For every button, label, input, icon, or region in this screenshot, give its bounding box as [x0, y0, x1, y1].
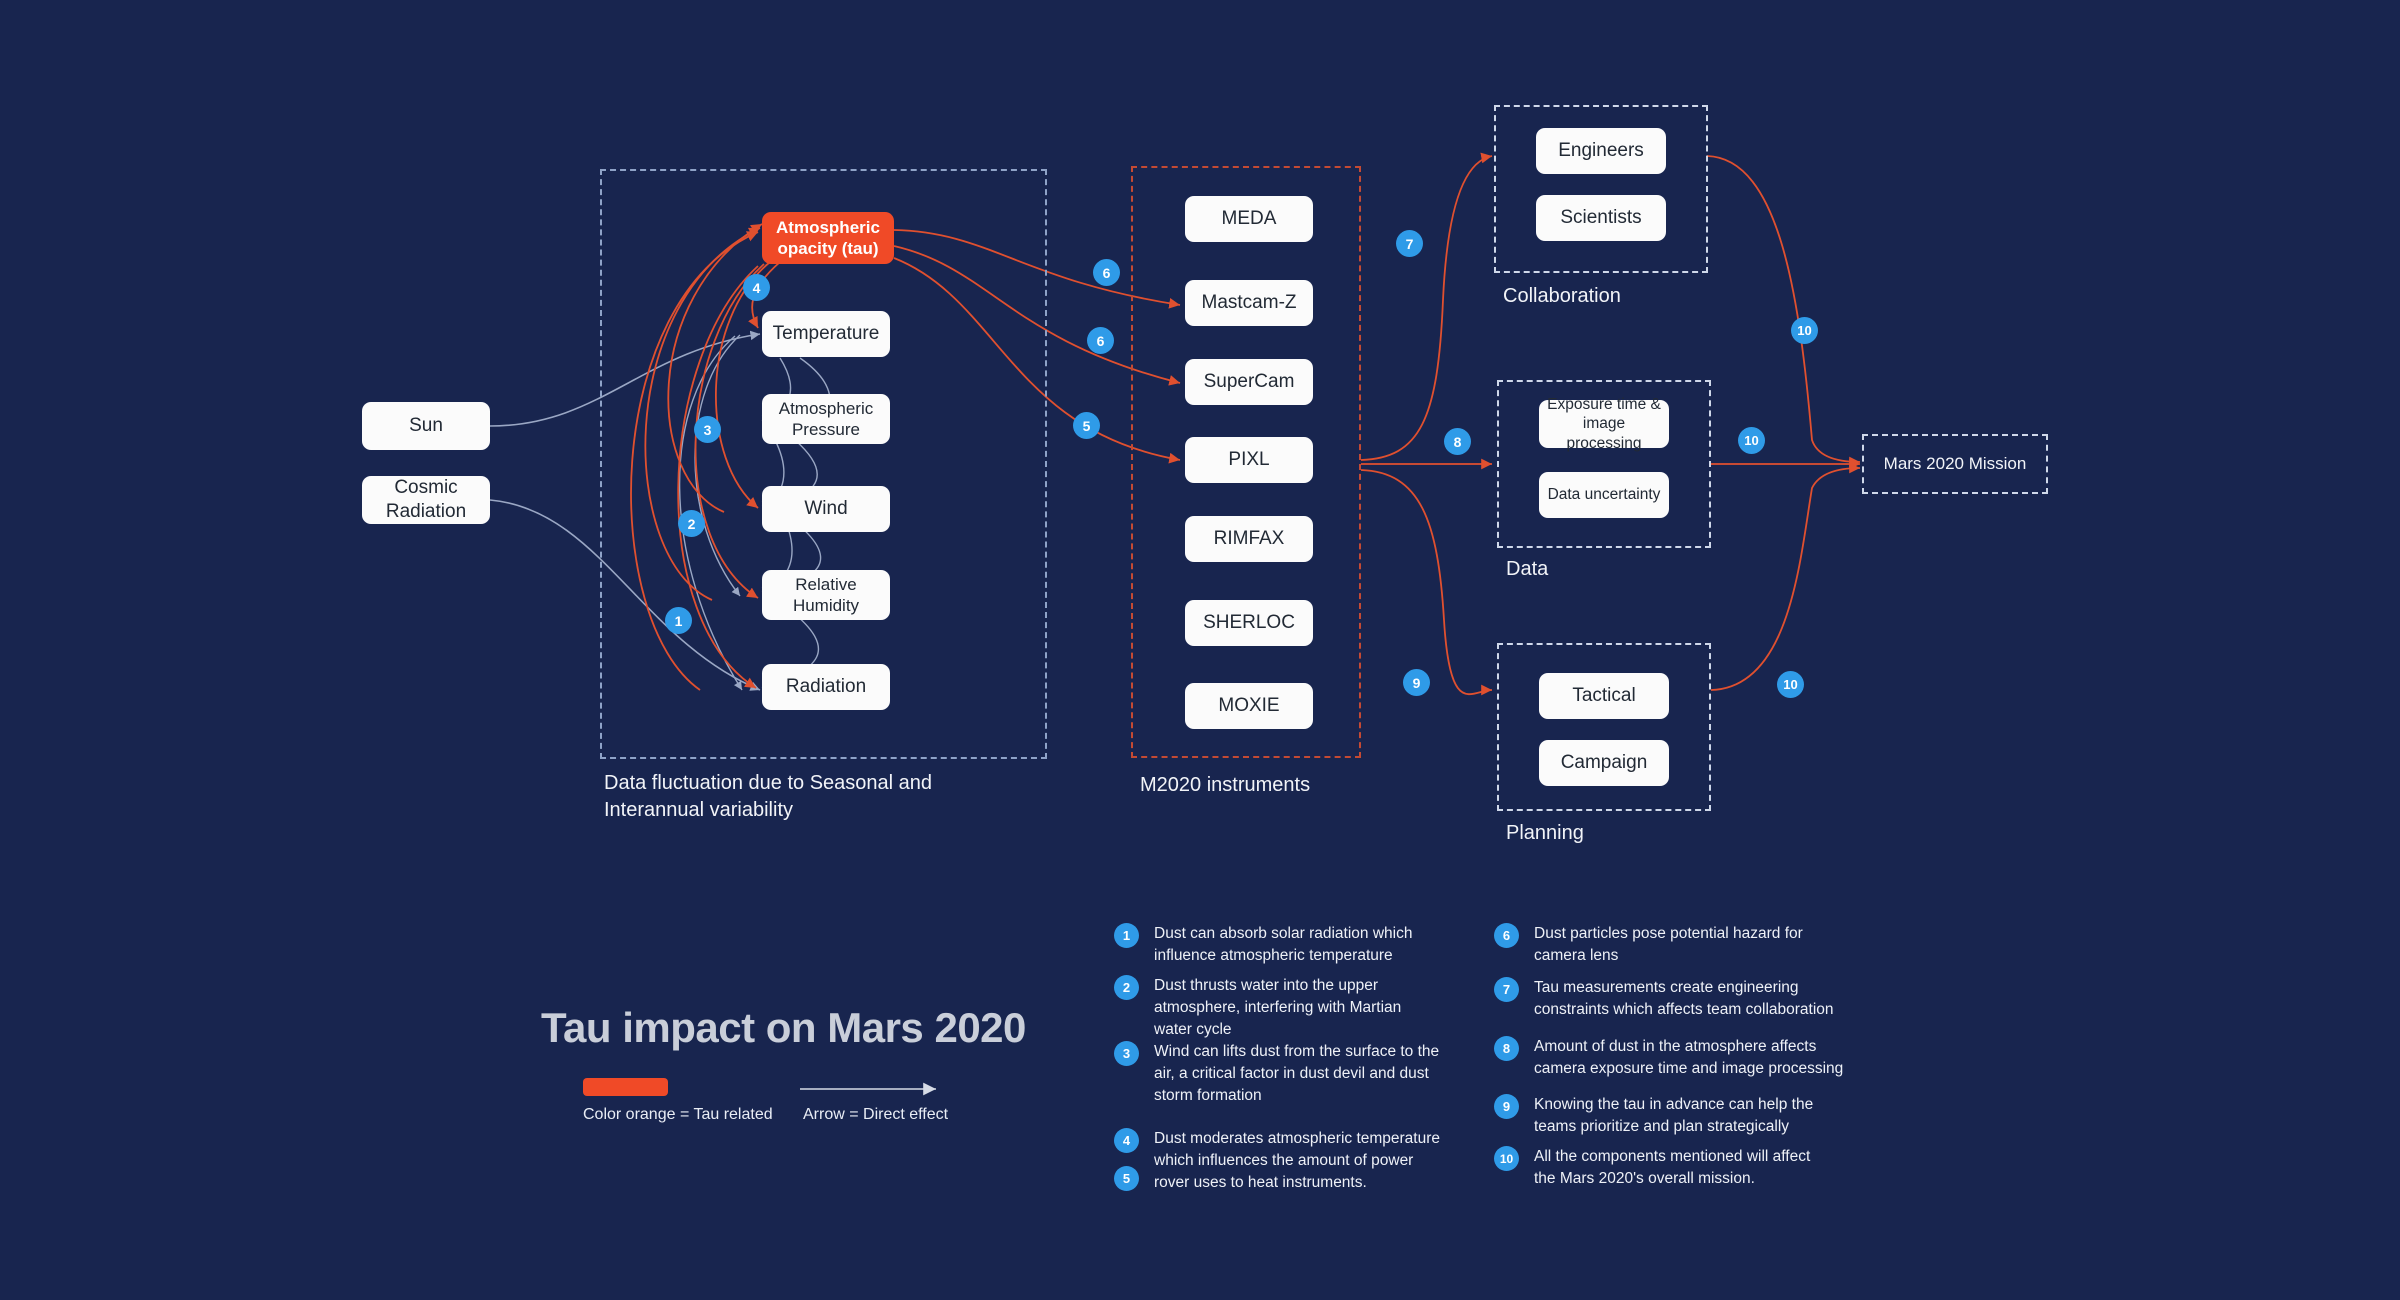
legend-badge: 9	[1494, 1094, 1519, 1119]
mission-label: Mars 2020 Mission	[1862, 434, 2048, 494]
legend-text: Knowing the tau in advance can help the …	[1534, 1094, 1813, 1138]
node-atmospheric-opacity-tau[interactable]: Atmospheric opacity (tau)	[762, 212, 894, 264]
node-relative-humidity[interactable]: Relative Humidity	[762, 570, 890, 620]
node-wind[interactable]: Wind	[762, 486, 890, 532]
diagram-canvas: Sun Cosmic Radiation Data fluctuation du…	[0, 0, 2400, 1300]
legend-item-2: 2 Dust thrusts water into the upper atmo…	[1114, 975, 1434, 1041]
diagram-badge-10-data: 10	[1738, 427, 1765, 454]
node-moxie[interactable]: MOXIE	[1185, 683, 1313, 729]
badge-number: 7	[1406, 236, 1414, 252]
badge-number: 10	[1744, 433, 1758, 448]
node-label: Engineers	[1558, 139, 1644, 163]
node-label: Mastcam-Z	[1202, 291, 1297, 315]
node-mastcam-z[interactable]: Mastcam-Z	[1185, 280, 1313, 326]
diagram-badge-3: 3	[694, 416, 721, 443]
node-label: Atmospheric opacity (tau)	[776, 217, 880, 260]
node-supercam[interactable]: SuperCam	[1185, 359, 1313, 405]
diagram-badge-1: 1	[665, 607, 692, 634]
node-label: Tactical	[1572, 684, 1635, 708]
legend-badge: 5	[1114, 1166, 1139, 1191]
legend-badge: 7	[1494, 977, 1519, 1002]
legend-item-5: 5	[1114, 1166, 1444, 1191]
legend-text: Dust can absorb solar radiation which in…	[1154, 923, 1412, 967]
diagram-badge-8: 8	[1444, 428, 1471, 455]
node-label: Campaign	[1561, 751, 1648, 775]
legend-item-6: 6 Dust particles pose potential hazard f…	[1494, 923, 1834, 967]
badge-number: 3	[704, 422, 712, 438]
diagram-badge-10-collab: 10	[1791, 317, 1818, 344]
badge-number: 5	[1083, 418, 1091, 434]
legend-badge: 4	[1114, 1128, 1139, 1153]
node-label: RIMFAX	[1214, 527, 1285, 551]
node-label: MEDA	[1222, 207, 1277, 231]
legend-text: All the components mentioned will affect…	[1534, 1146, 1810, 1190]
legend-item-9: 9 Knowing the tau in advance can help th…	[1494, 1094, 1844, 1138]
badge-number: 1	[675, 613, 683, 629]
legend-color-swatch	[583, 1078, 668, 1096]
badge-number: 9	[1413, 675, 1421, 691]
legend-text: Wind can lifts dust from the surface to …	[1154, 1041, 1439, 1107]
node-cosmic-radiation[interactable]: Cosmic Radiation	[362, 476, 490, 524]
legend-item-7: 7 Tau measurements create engineering co…	[1494, 977, 1844, 1021]
badge-number: 10	[1783, 677, 1797, 692]
diagram-badge-5-pixl: 5	[1073, 412, 1100, 439]
diagram-badge-10-planning: 10	[1777, 671, 1804, 698]
group-caption-variability: Data fluctuation due to Seasonal and Int…	[604, 770, 984, 824]
diagram-badge-9: 9	[1403, 669, 1430, 696]
node-label: Data uncertainty	[1548, 485, 1661, 504]
diagram-badge-2: 2	[678, 510, 705, 537]
node-exposure-time-image-processing[interactable]: Exposure time & image processing	[1539, 400, 1669, 448]
node-label: MOXIE	[1218, 694, 1279, 718]
node-label: SHERLOC	[1203, 611, 1295, 635]
legend-badge: 1	[1114, 923, 1139, 948]
page-title: Tau impact on Mars 2020	[541, 1004, 1026, 1052]
group-caption-collaboration: Collaboration	[1503, 283, 1723, 310]
legend-badge: 6	[1494, 923, 1519, 948]
node-label: Exposure time & image processing	[1545, 395, 1663, 453]
node-tactical[interactable]: Tactical	[1539, 673, 1669, 719]
badge-number: 10	[1797, 323, 1811, 338]
node-label: Sun	[409, 414, 443, 438]
badge-number: 6	[1097, 333, 1105, 349]
legend-item-1: 1 Dust can absorb solar radiation which …	[1114, 923, 1434, 967]
node-meda[interactable]: MEDA	[1185, 196, 1313, 242]
legend-text: Tau measurements create engineering cons…	[1534, 977, 1834, 1021]
legend-item-3: 3 Wind can lifts dust from the surface t…	[1114, 1041, 1444, 1107]
node-label: Relative Humidity	[793, 574, 859, 617]
badge-number: 2	[688, 516, 696, 532]
node-label: Atmospheric Pressure	[779, 398, 873, 441]
node-label: PIXL	[1228, 448, 1269, 472]
group-caption-data: Data	[1506, 556, 1726, 583]
group-caption-instruments: M2020 instruments	[1140, 772, 1400, 799]
legend-text: Dust thrusts water into the upper atmosp…	[1154, 975, 1401, 1041]
diagram-badge-6-mastcam: 6	[1093, 259, 1120, 286]
node-atmospheric-pressure[interactable]: Atmospheric Pressure	[762, 394, 890, 444]
node-label: Radiation	[786, 675, 866, 699]
legend-text: Amount of dust in the atmosphere affects…	[1534, 1036, 1843, 1080]
badge-number: 6	[1103, 265, 1111, 281]
node-label: Cosmic Radiation	[386, 476, 466, 524]
node-campaign[interactable]: Campaign	[1539, 740, 1669, 786]
node-pixl[interactable]: PIXL	[1185, 437, 1313, 483]
legend-arrow-label: Arrow = Direct effect	[803, 1106, 948, 1124]
legend-badge: 8	[1494, 1036, 1519, 1061]
legend-text: Dust particles pose potential hazard for…	[1534, 923, 1803, 967]
legend-badge: 3	[1114, 1041, 1139, 1066]
node-rimfax[interactable]: RIMFAX	[1185, 516, 1313, 562]
node-scientists[interactable]: Scientists	[1536, 195, 1666, 241]
diagram-badge-7: 7	[1396, 230, 1423, 257]
node-label: Temperature	[773, 322, 880, 346]
node-engineers[interactable]: Engineers	[1536, 128, 1666, 174]
node-sherloc[interactable]: SHERLOC	[1185, 600, 1313, 646]
diagram-badge-4: 4	[743, 274, 770, 301]
badge-number: 4	[753, 280, 761, 296]
legend-item-8: 8 Amount of dust in the atmosphere affec…	[1494, 1036, 1844, 1080]
diagram-badge-6-supercam: 6	[1087, 327, 1114, 354]
node-label: SuperCam	[1204, 370, 1295, 394]
node-radiation[interactable]: Radiation	[762, 664, 890, 710]
legend-badge: 2	[1114, 975, 1139, 1000]
node-label: Scientists	[1560, 206, 1641, 230]
legend-badge: 10	[1494, 1146, 1519, 1171]
node-label: Wind	[804, 497, 847, 521]
legend-item-10: 10 All the components mentioned will aff…	[1494, 1146, 1844, 1190]
group-caption-planning: Planning	[1506, 820, 1726, 847]
node-temperature[interactable]: Temperature	[762, 311, 890, 357]
node-sun[interactable]: Sun	[362, 402, 490, 450]
legend-color-label: Color orange = Tau related	[583, 1106, 773, 1124]
badge-number: 8	[1454, 434, 1462, 450]
node-data-uncertainty[interactable]: Data uncertainty	[1539, 472, 1669, 518]
